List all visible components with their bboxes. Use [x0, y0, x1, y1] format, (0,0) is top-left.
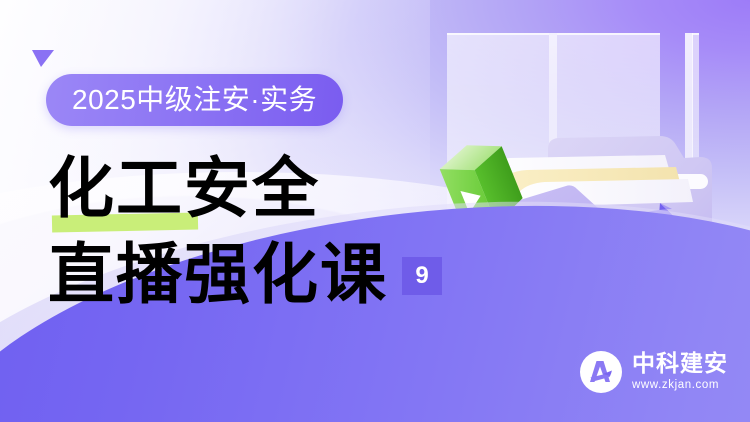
course-category-tag: 2025中级注安·实务	[46, 74, 343, 126]
course-promo-banner: 2025中级注安·实务 化工安全 直播强化课 9 中科建安 www.zkjan.…	[0, 0, 750, 422]
course-category-label: 2025中级注安·实务	[72, 86, 317, 114]
episode-number-badge: 9	[402, 257, 442, 295]
tag-tail-pointer	[32, 50, 54, 67]
brand-logo[interactable]: 中科建安 www.zkjan.com	[579, 350, 728, 394]
headline-line-2: 直播强化课	[48, 238, 388, 314]
headline-line-1: 化工安全	[48, 152, 468, 228]
headline-block: 化工安全 直播强化课 9	[48, 152, 468, 314]
brand-url: www.zkjan.com	[632, 380, 728, 392]
headline-line-2-row: 直播强化课 9	[48, 238, 468, 314]
mountain-arrow-circle-icon	[579, 350, 623, 394]
brand-text-block: 中科建安 www.zkjan.com	[632, 352, 728, 392]
headline-line-1-row: 化工安全	[48, 152, 468, 228]
brand-name: 中科建安	[632, 352, 728, 375]
